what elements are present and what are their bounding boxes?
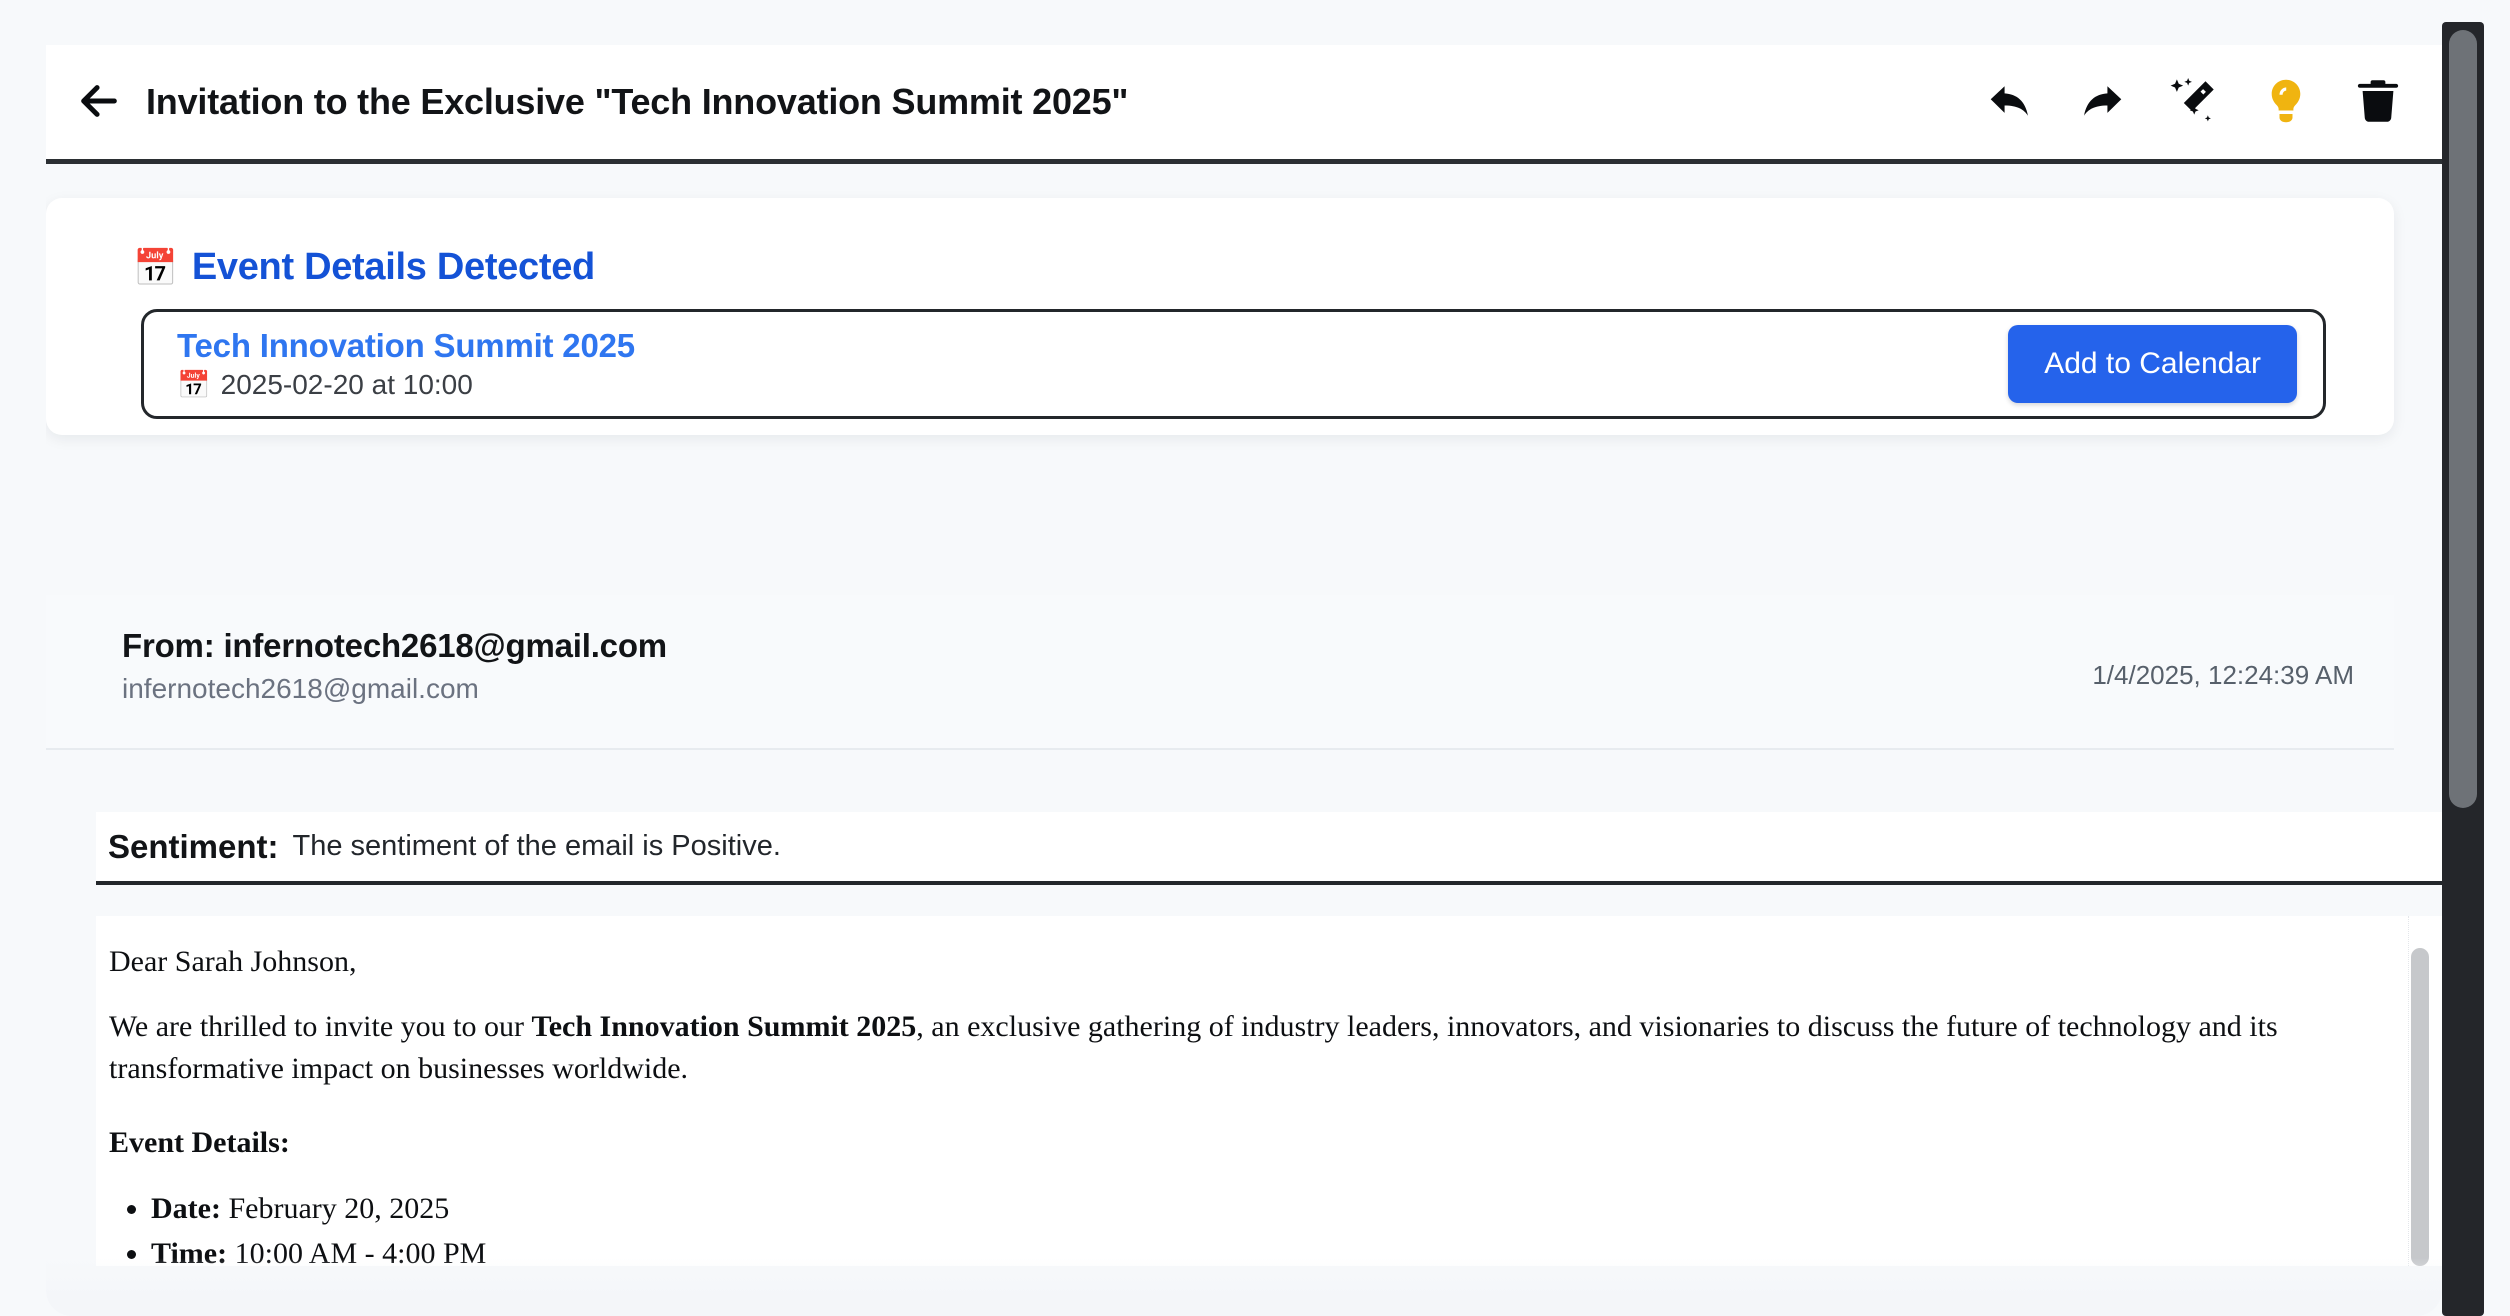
page-scrollbar[interactable]	[2442, 22, 2484, 1316]
body-intro-pre: We are thrilled to invite you to our	[109, 1010, 531, 1043]
body-details-heading: Event Details:	[109, 1122, 2382, 1163]
reply-button[interactable]	[1982, 74, 2038, 130]
body-bottom-fade	[46, 1258, 2442, 1316]
sender-email-address: infernotech2618@gmail.com	[122, 673, 667, 705]
email-body-scrollbar[interactable]	[2408, 916, 2428, 1266]
insights-button[interactable]	[2258, 74, 2314, 130]
event-detection-heading: 📅 Event Details Detected	[133, 246, 595, 289]
body-intro-bold: Tech Innovation Summit 2025	[531, 1010, 916, 1043]
detail-value: 10:00 AM - 4:00 PM	[235, 1237, 487, 1266]
sender-info: From: infernotech2618@gmail.com infernot…	[122, 627, 667, 705]
detected-event-info: Tech Innovation Summit 2025 📅 2025-02-20…	[177, 327, 635, 401]
reply-arrow-icon	[1984, 75, 2036, 130]
detail-value: February 20, 2025	[228, 1192, 449, 1225]
detected-event-datetime-row: 📅 2025-02-20 at 10:00	[177, 369, 635, 401]
email-body-container[interactable]: Dear Sarah Johnson, We are thrilled to i…	[96, 916, 2442, 1266]
event-detection-card: 📅 Event Details Detected Tech Innovation…	[46, 198, 2394, 435]
lightbulb-icon	[2260, 75, 2312, 130]
email-header-bar: Invitation to the Exclusive "Tech Innova…	[46, 45, 2442, 164]
detail-label: Time:	[151, 1237, 227, 1266]
detected-event-title[interactable]: Tech Innovation Summit 2025	[177, 327, 635, 365]
detected-event-datetime: 2025-02-20 at 10:00	[221, 369, 473, 401]
delete-button[interactable]	[2350, 74, 2406, 130]
detected-event-row: Tech Innovation Summit 2025 📅 2025-02-20…	[141, 309, 2326, 419]
event-detection-heading-label: Event Details Detected	[192, 246, 595, 289]
page-title: Invitation to the Exclusive "Tech Innova…	[146, 81, 1982, 123]
detail-label: Date:	[151, 1192, 221, 1225]
magic-wand-icon	[2168, 75, 2220, 130]
calendar-icon: 📅	[177, 372, 211, 399]
calendar-icon: 📅	[133, 250, 178, 286]
forward-arrow-icon	[2076, 75, 2128, 130]
sender-from-line: From: infernotech2618@gmail.com	[122, 627, 667, 665]
body-greeting: Dear Sarah Johnson,	[109, 941, 2382, 982]
email-body-scrollbar-thumb[interactable]	[2411, 948, 2429, 1266]
forward-button[interactable]	[2074, 74, 2130, 130]
sentiment-strip: Sentiment: The sentiment of the email is…	[96, 812, 2442, 885]
email-timestamp: 1/4/2025, 12:24:39 AM	[2092, 660, 2354, 691]
email-sender-block: From: infernotech2618@gmail.com infernot…	[46, 595, 2394, 750]
arrow-left-icon	[76, 78, 122, 127]
sentiment-value: The sentiment of the email is Positive.	[293, 830, 781, 863]
page-scrollbar-thumb[interactable]	[2449, 30, 2477, 808]
list-item: Date: February 20, 2025	[151, 1188, 2382, 1229]
back-button[interactable]	[64, 67, 134, 137]
list-item: Time: 10:00 AM - 4:00 PM	[151, 1233, 2382, 1266]
body-details-list: Date: February 20, 2025 Time: 10:00 AM -…	[151, 1188, 2382, 1266]
header-action-group	[1982, 74, 2406, 130]
email-detail-app-frame: Invitation to the Exclusive "Tech Innova…	[46, 0, 2442, 1316]
ai-summarize-button[interactable]	[2166, 74, 2222, 130]
add-to-calendar-button[interactable]: Add to Calendar	[2008, 325, 2297, 403]
sentiment-label: Sentiment:	[108, 828, 279, 866]
trash-icon	[2352, 75, 2404, 130]
email-body-text: Dear Sarah Johnson, We are thrilled to i…	[96, 916, 2442, 1266]
body-intro-paragraph: We are thrilled to invite you to our Tec…	[109, 1006, 2382, 1089]
